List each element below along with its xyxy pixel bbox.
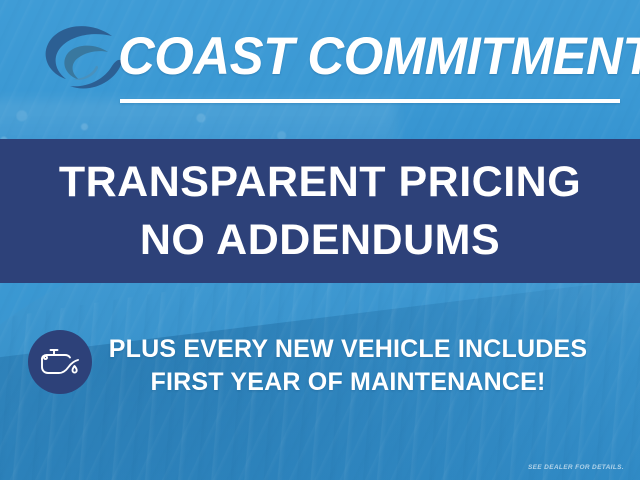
- promo-text-block: PLUS EVERY NEW VEHICLE INCLUDES FIRST YE…: [104, 333, 592, 399]
- oil-can-icon: [38, 345, 82, 379]
- disclaimer-text: SEE DEALER FOR DETAILS.: [528, 464, 624, 471]
- oil-can-badge: [28, 330, 92, 394]
- coast-wave-swirl-logo-icon: [38, 22, 130, 100]
- promo-line-1: PLUS EVERY NEW VEHICLE INCLUDES: [104, 333, 592, 366]
- page-title: COAST COMMITMENT: [118, 26, 606, 88]
- title-divider: [120, 99, 620, 103]
- promo-line-2: FIRST YEAR OF MAINTENANCE!: [104, 366, 592, 399]
- headline-band: TRANSPARENT PRICING NO ADDENDUMS: [0, 139, 640, 283]
- promo-section: PLUS EVERY NEW VEHICLE INCLUDES FIRST YE…: [0, 283, 640, 480]
- coast-commitment-banner: COAST COMMITMENT TRANSPARENT PRICING NO …: [0, 0, 640, 480]
- banner-header: COAST COMMITMENT: [0, 0, 640, 139]
- headline-line-2: NO ADDENDUMS: [140, 211, 500, 269]
- headline-line-1: TRANSPARENT PRICING: [59, 153, 581, 211]
